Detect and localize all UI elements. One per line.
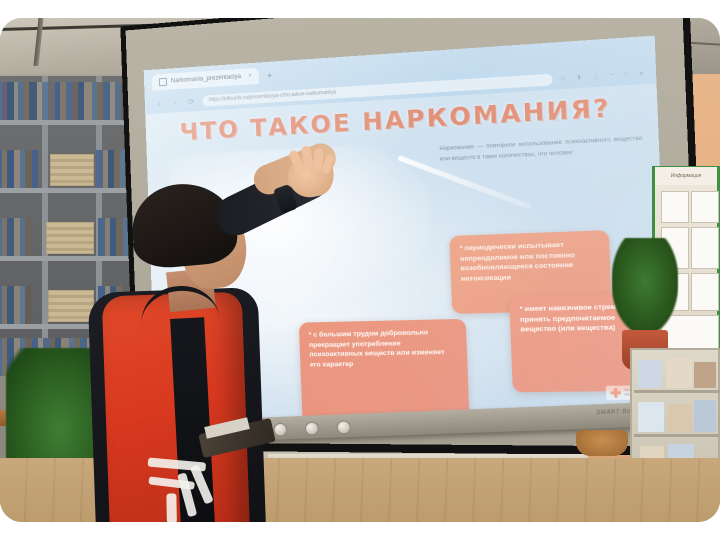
- browser-tab-title: Narkomania_prezentaciya: [171, 74, 241, 85]
- photograph: Narkomania_prezentaciya × + ‹ › ⟳ https:…: [0, 18, 720, 522]
- tray-icon-1[interactable]: [212, 425, 226, 439]
- close-window-icon[interactable]: ✕: [638, 69, 644, 77]
- notice-board-header: Информация: [655, 167, 717, 185]
- laminate-floor: [0, 458, 720, 522]
- projected-browser-window[interactable]: Narkomania_prezentaciya × + ‹ › ⟳ https:…: [144, 36, 670, 420]
- slide-card-middle: * с большим трудом добровольно прекращае…: [299, 319, 470, 420]
- document-icon: [159, 78, 167, 87]
- gloved-hand-photo: [169, 141, 435, 315]
- tray-icon-4[interactable]: [305, 422, 319, 436]
- close-icon[interactable]: ×: [248, 73, 252, 79]
- medical-cross-icon: [610, 388, 621, 398]
- forward-icon[interactable]: ›: [170, 98, 179, 108]
- menu-kebab-icon[interactable]: ⋮: [592, 72, 599, 80]
- presentation-slide: ЧТО ТАКОЕ НАРКОМАНИЯ? Наркомания — повто…: [145, 83, 669, 420]
- ceiling-pipe: [34, 18, 44, 66]
- wicker-basket: [576, 430, 628, 456]
- potted-plant-right: [612, 238, 678, 334]
- back-icon[interactable]: ‹: [155, 99, 164, 109]
- tray-button-row[interactable]: [212, 420, 351, 438]
- tray-icon-3[interactable]: [273, 423, 287, 437]
- reload-icon[interactable]: ⟳: [186, 97, 195, 107]
- slide-card-left: * стремится достать предпочитаемые вещес…: [145, 330, 243, 420]
- slide-definition-paragraph: Наркомания — повторное использование пси…: [439, 134, 643, 165]
- minimize-icon[interactable]: –: [610, 72, 614, 79]
- bookmark-star-icon[interactable]: ☆: [560, 74, 566, 82]
- tray-icon-2[interactable]: [242, 424, 256, 438]
- new-tab-button[interactable]: +: [267, 70, 272, 79]
- tray-icon-5[interactable]: [337, 420, 351, 434]
- toolbar-icons: ☆ ⬇ ⋮ – □ ✕: [560, 69, 645, 82]
- downloads-icon[interactable]: ⬇: [576, 73, 582, 81]
- maximize-icon[interactable]: □: [624, 71, 628, 78]
